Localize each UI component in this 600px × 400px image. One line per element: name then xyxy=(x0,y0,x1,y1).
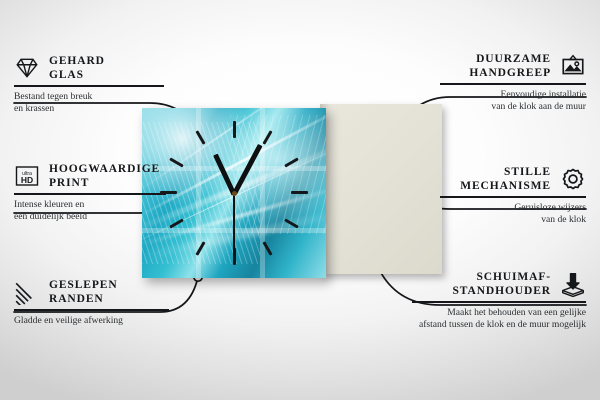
feature-subtitle-line2: van de klok aan de muur xyxy=(440,101,586,114)
feature-schuimafstandhouder: SCHUIMAF- STANDHOUDER Maakt het behouden… xyxy=(412,270,586,332)
clock-center-pin xyxy=(232,191,237,196)
second-hand xyxy=(233,194,235,256)
feature-divider xyxy=(14,85,164,87)
feature-subtitle-line2: afstand tussen de klok en de muur mogeli… xyxy=(412,319,586,332)
feature-subtitle: Geruisloze wijzers van de klok xyxy=(440,202,586,227)
feature-title-line2: GLAS xyxy=(49,68,105,82)
feature-header: GEHARD GLAS xyxy=(14,54,164,82)
feature-title: STILLE MECHANISME xyxy=(460,165,551,193)
feature-title: DUURZAME HANDGREEP xyxy=(469,52,551,80)
feature-header: ultra HD HOOGWAARDIGE PRINT xyxy=(14,162,166,190)
feature-title-line1: SCHUIMAF- xyxy=(452,270,551,284)
diamond-icon xyxy=(14,55,40,81)
feature-title-line2: STANDHOUDER xyxy=(452,284,551,298)
feature-subtitle-line1: Bestand tegen breuk xyxy=(14,91,164,104)
feature-divider xyxy=(440,196,586,198)
feature-title-line2: HANDGREEP xyxy=(469,66,551,80)
feature-header: GESLEPEN RANDEN xyxy=(14,278,169,306)
feature-divider xyxy=(14,193,166,195)
ultra-hd-icon: ultra HD xyxy=(14,163,40,189)
feature-subtitle: Bestand tegen breuk en krassen xyxy=(14,91,164,116)
feature-subtitle-line1: Intense kleuren en xyxy=(14,199,166,212)
feature-title-line2: RANDEN xyxy=(49,292,118,306)
clock-back-panel-photo xyxy=(320,104,442,274)
feature-title: GESLEPEN RANDEN xyxy=(49,278,118,306)
feature-subtitle-line1: Eenvoudige installatie xyxy=(440,89,586,102)
feature-title-line1: GESLEPEN xyxy=(49,278,118,292)
feature-subtitle: Maakt het behouden van een gelijke afsta… xyxy=(412,307,586,332)
feature-stille-mechanisme: STILLE MECHANISME Geruisloze wijzers van… xyxy=(440,165,586,227)
gear-icon xyxy=(560,166,586,192)
feature-gehard-glas: GEHARD GLAS Bestand tegen breuk en krass… xyxy=(14,54,164,116)
feature-title-line1: STILLE xyxy=(460,165,551,179)
feature-title-line1: HOOGWAARDIGE xyxy=(49,162,160,176)
feature-divider xyxy=(440,83,586,85)
wall-clock-photo xyxy=(142,108,326,278)
feature-subtitle-line1: Gladde en veilige afwerking xyxy=(14,315,169,328)
feature-subtitle: Gladde en veilige afwerking xyxy=(14,315,169,328)
feature-header: STILLE MECHANISME xyxy=(440,165,586,193)
clock-tick xyxy=(291,191,308,194)
feature-duurzame-handgreep: DUURZAME HANDGREEP Eenvoudige installati… xyxy=(440,52,586,114)
feature-subtitle-line2: een duidelijk beeld xyxy=(14,211,166,224)
down-arrow-stack-icon xyxy=(560,271,586,297)
feature-header: SCHUIMAF- STANDHOUDER xyxy=(412,270,586,298)
feature-divider xyxy=(412,301,586,303)
svg-text:HD: HD xyxy=(21,175,33,185)
feature-subtitle-line2: van de klok xyxy=(440,214,586,227)
feature-title-line2: MECHANISME xyxy=(460,179,551,193)
feature-subtitle: Eenvoudige installatie van de klok aan d… xyxy=(440,89,586,114)
feature-subtitle: Intense kleuren en een duidelijk beeld xyxy=(14,199,166,224)
framed-picture-icon xyxy=(560,53,586,79)
glass-seam xyxy=(260,108,265,278)
feature-divider xyxy=(14,309,169,311)
feature-geslepen-randen: GESLEPEN RANDEN Gladde en veilige afwerk… xyxy=(14,278,169,327)
feature-header: DUURZAME HANDGREEP xyxy=(440,52,586,80)
feature-title-line1: GEHARD xyxy=(49,54,105,68)
clock-tick xyxy=(233,121,236,138)
feature-subtitle-line2: en krassen xyxy=(14,103,164,116)
feature-title-line2: PRINT xyxy=(49,176,160,190)
feature-subtitle-line1: Maakt het behouden van een gelijke xyxy=(412,307,586,320)
feature-subtitle-line1: Geruisloze wijzers xyxy=(440,202,586,215)
feature-hoogwaardige-print: ultra HD HOOGWAARDIGE PRINT Intense kleu… xyxy=(14,162,166,224)
feature-title: GEHARD GLAS xyxy=(49,54,105,82)
diagonal-edges-icon xyxy=(14,279,40,305)
feature-title-line1: DUURZAME xyxy=(469,52,551,66)
feature-title: SCHUIMAF- STANDHOUDER xyxy=(452,270,551,298)
glass-seam xyxy=(142,166,326,171)
infographic-canvas: GEHARD GLAS Bestand tegen breuk en krass… xyxy=(0,0,600,400)
feature-title: HOOGWAARDIGE PRINT xyxy=(49,162,160,190)
